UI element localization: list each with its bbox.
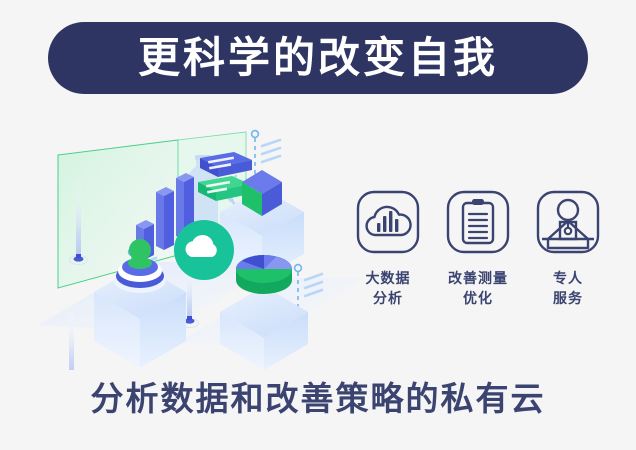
clipboard-icon <box>446 190 510 254</box>
feature-big-data-analysis[interactable]: 大数据 分析 <box>352 190 424 335</box>
feature-dedicated-service[interactable]: 专人 服务 <box>532 190 604 335</box>
feature-label: 专人 服务 <box>553 268 583 309</box>
hero-illustration <box>28 120 368 370</box>
feature-label-line-2: 服务 <box>553 288 583 308</box>
title-banner: 更科学的改变自我 <box>48 22 588 94</box>
page-title: 更科学的改变自我 <box>138 37 498 79</box>
cloud-badge <box>174 220 234 280</box>
feature-label-line-2: 分析 <box>366 288 411 308</box>
bar-2 <box>156 187 174 250</box>
feature-list: 大数据 分析 <box>352 190 604 335</box>
poster-root: 更科学的改变自我 <box>0 0 636 450</box>
tagline: 分析数据和改善策略的私有云 <box>0 382 636 415</box>
feature-label-line-2: 优化 <box>448 288 508 308</box>
feature-label-line-1: 大数据 <box>366 268 411 288</box>
support-agent-icon <box>536 190 600 254</box>
feature-label: 改善测量 优化 <box>448 268 508 309</box>
feature-label-line-1: 改善测量 <box>448 268 508 288</box>
feature-label: 大数据 分析 <box>366 268 411 309</box>
feature-measure-optimize[interactable]: 改善测量 优化 <box>442 190 514 335</box>
cloud-bar-chart-icon <box>356 190 420 254</box>
feature-label-line-1: 专人 <box>553 268 583 288</box>
